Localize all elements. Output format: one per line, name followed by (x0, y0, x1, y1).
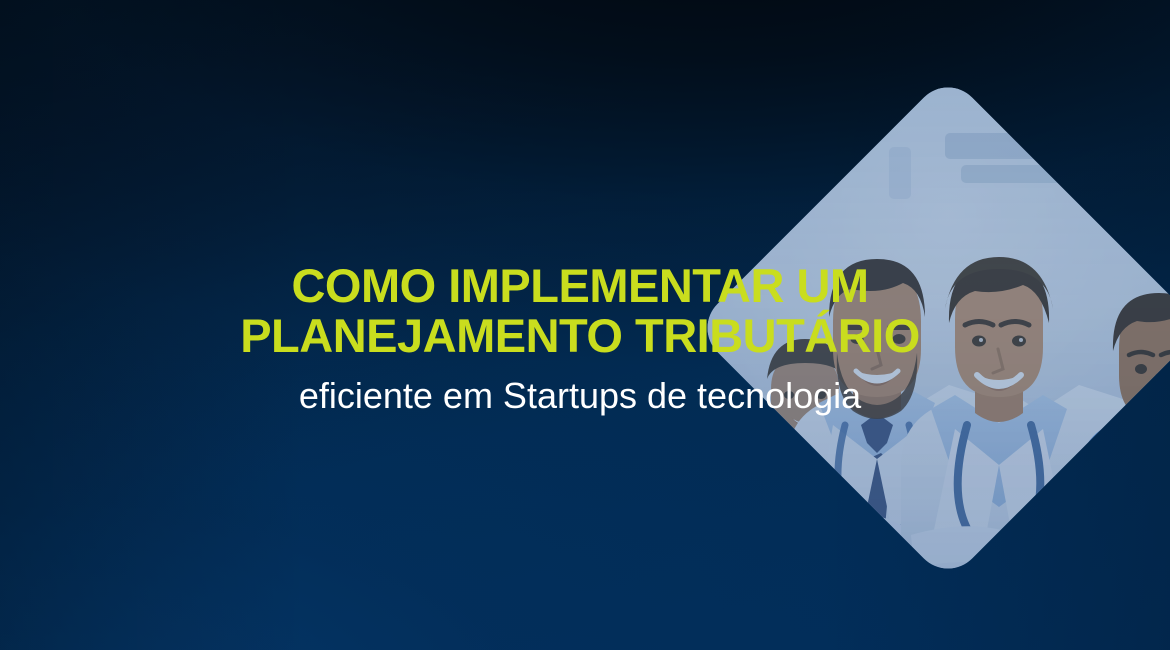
banner-root: COMO IMPLEMENTAR UM PLANEJAMENTO TRIBUTÁ… (0, 0, 1170, 650)
subheadline: eficiente em Startups de tecnologia (0, 375, 1165, 417)
headline-line-1: COMO IMPLEMENTAR UM (0, 262, 1165, 309)
headline-line-2: PLANEJAMENTO TRIBUTÁRIO (0, 312, 1165, 359)
